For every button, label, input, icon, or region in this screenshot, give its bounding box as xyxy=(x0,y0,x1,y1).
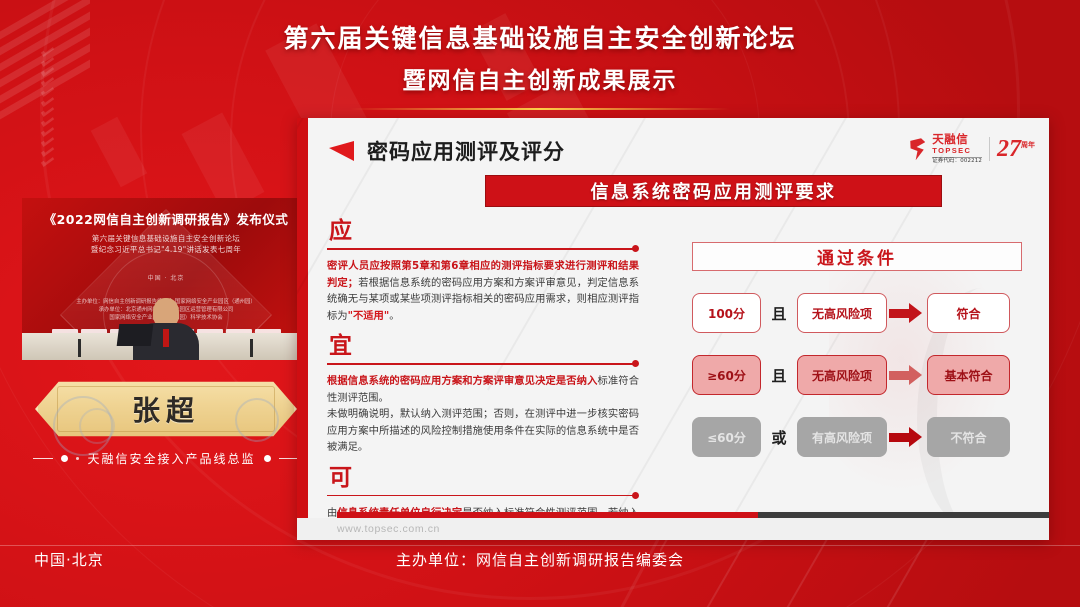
event-title-line1: 第六届关键信息基础设施自主安全创新论坛 xyxy=(0,22,1080,56)
topsec-swoosh-icon xyxy=(910,138,925,160)
event-title-line2: 暨网信自主创新成果展示 xyxy=(0,64,1080,98)
role-dot-left xyxy=(61,455,68,462)
requirement-paragraph: 密评人员应按照第5章和第6章相应的测评指标要求进行测评和结果判定；若根据信息系统… xyxy=(327,258,639,324)
arrow-right-icon xyxy=(887,293,927,333)
condition-risk-chip: 无高风险项 xyxy=(797,293,887,333)
requirement-keyword: 可 xyxy=(329,465,639,491)
requirement-lead: 根据信息系统的密码应用方案和方案评审意见决定是否纳入 xyxy=(327,375,598,387)
speaker-role-text: 天融信安全接入产品线总监 xyxy=(87,450,255,467)
condition-row: ≥60分 且 无高风险项 基本符合 xyxy=(692,355,1022,395)
role-dot-small-left xyxy=(76,457,79,460)
speaker-video-thumbnail[interactable]: 《2022网信自主创新调研报告》发布仪式 第六届关键信息基础设施自主安全创新论坛… xyxy=(22,198,310,360)
header-divider xyxy=(350,108,730,110)
condition-conjunction: 或 xyxy=(761,427,797,448)
condition-risk-chip: 无高风险项 xyxy=(797,355,887,395)
requirement-keyword: 应 xyxy=(329,218,639,244)
condition-row: 100分 且 无高风险项 符合 xyxy=(692,293,1022,333)
condition-conjunction: 且 xyxy=(761,365,797,386)
anniversary-number: 27 xyxy=(997,136,1021,162)
video-city: 中国 · 北京 xyxy=(22,273,310,282)
requirement-paragraph: 根据信息系统的密码应用方案和方案评审意见决定是否纳入标准符合性测评范围。未做明确… xyxy=(327,373,639,456)
video-title: 《2022网信自主创新调研报告》发布仪式 xyxy=(22,209,310,228)
requirement-keyword: 宜 xyxy=(329,333,639,359)
condition-result-chip: 不符合 xyxy=(927,417,1010,457)
slide-title-row: 密码应用测评及评分 xyxy=(329,136,565,166)
logo-english-name: TOPSEC xyxy=(932,147,982,155)
pass-conditions-title: 通过条件 xyxy=(817,244,897,269)
role-dash-left xyxy=(33,458,53,459)
role-dash-right xyxy=(279,458,299,459)
slide-title: 密码应用测评及评分 xyxy=(367,136,565,166)
pass-conditions-title-box: 通过条件 xyxy=(692,242,1022,271)
anniversary-badge: 27周年 xyxy=(997,137,1035,161)
requirements-text-column: 应 密评人员应按照第5章和第6章相应的测评指标要求进行测评和结果判定；若根据信息… xyxy=(327,218,639,540)
requirement-tail: 未做明确说明，默认纳入测评范围；否则，在测评中进一步核实密码应用方案中所描述的风… xyxy=(327,408,639,453)
video-laptop xyxy=(117,324,154,346)
speaker-nameplate: 张超 xyxy=(35,378,297,440)
event-header: 第六届关键信息基础设施自主安全创新论坛 暨网信自主创新成果展示 xyxy=(0,22,1080,110)
video-microphone xyxy=(250,339,253,357)
footer-organizer: 主办单位：网信自主创新调研报告编委会 xyxy=(0,549,1080,570)
requirement-underline xyxy=(327,360,639,369)
requirement-prefix: 由 xyxy=(327,507,337,519)
requirement-emphasis: "不适用" xyxy=(348,310,390,322)
slide-banner: 信息系统密码应用测评要求 xyxy=(485,175,942,207)
topsec-logo: 天融信 TOPSEC 证券代码：002212 27周年 xyxy=(910,134,1035,164)
logo-stock-code: 证券代码：002212 xyxy=(932,157,982,165)
video-microphone xyxy=(78,339,81,357)
slide-footer-dark-bar xyxy=(758,512,1049,518)
presentation-screenshot: 第六届关键信息基础设施自主安全创新论坛 暨网信自主创新成果展示 《2022网信自… xyxy=(0,0,1080,607)
condition-score-chip: 100分 xyxy=(692,293,761,333)
footer-divider xyxy=(0,545,1080,546)
presentation-slide[interactable]: 密码应用测评及评分 天融信 TOPSEC 证券代码：002212 27周年 信息… xyxy=(297,118,1049,540)
logo-text-group: 天融信 TOPSEC 证券代码：002212 xyxy=(932,134,982,164)
speaker-role-row: 天融信安全接入产品线总监 xyxy=(22,448,310,468)
slide-website-url: www.topsec.com.cn xyxy=(337,523,440,535)
arrow-right-icon xyxy=(887,355,927,395)
slide-footer-red-bar xyxy=(337,512,758,518)
logo-chinese-name: 天融信 xyxy=(932,134,982,146)
pass-conditions-panel: 通过条件 100分 且 无高风险项 符合 ≥60分 且 无高风险项 基本符合 ≤… xyxy=(692,242,1022,457)
slide-left-accent-bar xyxy=(297,118,308,540)
requirement-tail: 。 xyxy=(389,310,399,322)
requirement-underline xyxy=(327,492,639,501)
requirement-block-ying: 应 密评人员应按照第5章和第6章相应的测评指标要求进行测评和结果判定；若根据信息… xyxy=(327,218,639,324)
triangle-bullet-icon xyxy=(329,141,354,161)
condition-result-chip: 符合 xyxy=(927,293,1010,333)
condition-score-chip: ≤60分 xyxy=(692,417,761,457)
video-subtitle-1: 第六届关键信息基础设施自主安全创新论坛 xyxy=(22,233,310,244)
requirement-block-yi: 宜 根据信息系统的密码应用方案和方案评审意见决定是否纳入标准符合性测评范围。未做… xyxy=(327,333,639,456)
condition-result-chip: 基本符合 xyxy=(927,355,1010,395)
slide-banner-text: 信息系统密码应用测评要求 xyxy=(591,178,837,204)
condition-score-chip: ≥60分 xyxy=(692,355,761,395)
role-dot-right xyxy=(264,455,271,462)
condition-conjunction: 且 xyxy=(761,303,797,324)
anniversary-sup: 周年 xyxy=(1021,141,1035,149)
condition-row: ≤60分 或 有高风险项 不符合 xyxy=(692,417,1022,457)
speaker-name: 张超 xyxy=(35,378,297,440)
video-subtitle-2: 暨纪念习近平总书记"4.19"讲话发表七周年 xyxy=(22,244,310,255)
slide-footer-url-bar: www.topsec.com.cn xyxy=(297,518,1049,540)
condition-risk-chip: 有高风险项 xyxy=(797,417,887,457)
logo-divider xyxy=(989,137,990,161)
requirement-underline xyxy=(327,245,639,254)
arrow-right-icon xyxy=(887,417,927,457)
